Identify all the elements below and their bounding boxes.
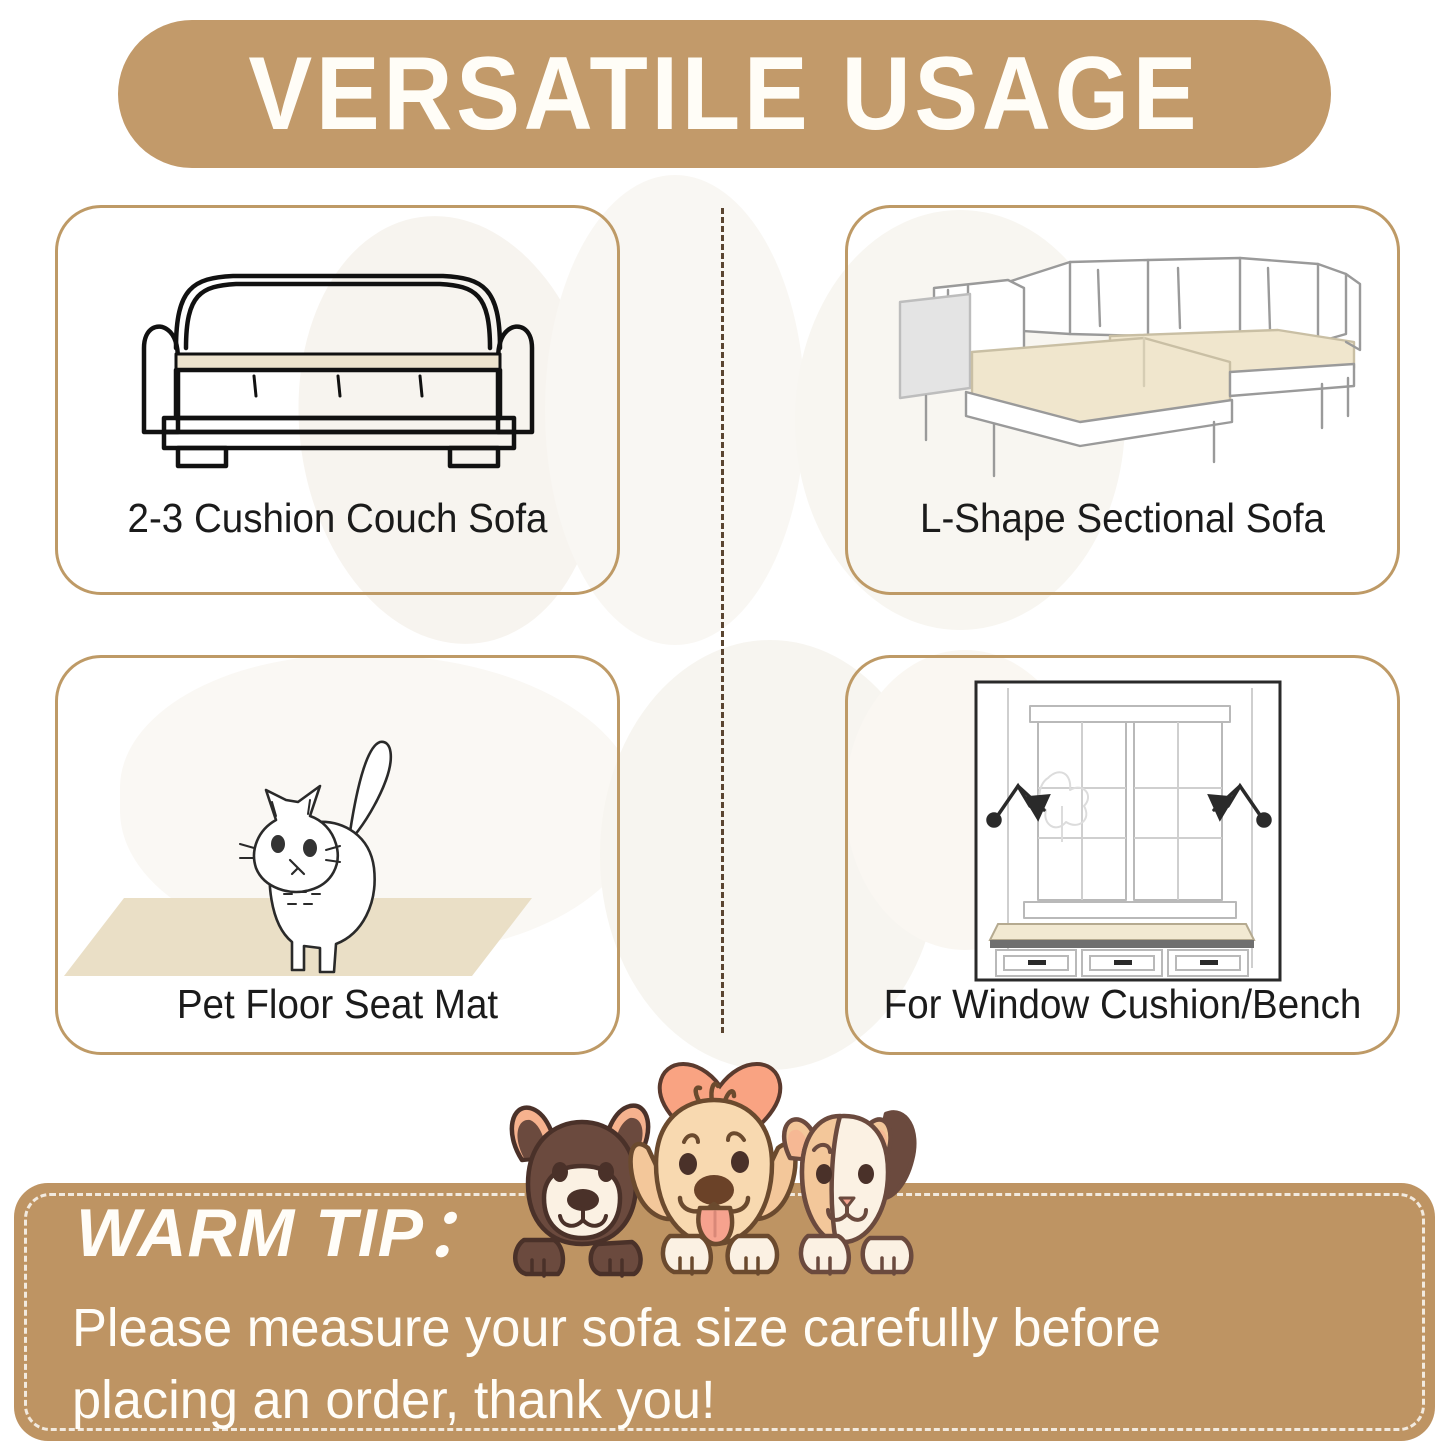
warm-tip-line-2: placing an order, thank you!: [72, 1369, 716, 1431]
window-bench-icon: [848, 678, 1408, 988]
header-banner: VERSATILE USAGE: [118, 20, 1331, 168]
usage-card-couch-sofa: 2-3 Cushion Couch Sofa: [55, 205, 620, 595]
warm-tip-line-1: Please measure your sofa size carefully …: [72, 1297, 1161, 1359]
usage-card-label: 2-3 Cushion Couch Sofa: [75, 495, 600, 542]
column-divider: [721, 208, 724, 1033]
usage-card-pet-floor-mat: Pet Floor Seat Mat: [55, 655, 620, 1055]
l-shape-sectional-sofa-icon: [848, 226, 1398, 494]
usage-card-window-bench: For Window Cushion/Bench: [845, 655, 1400, 1055]
usage-card-l-shape-sectional: L-Shape Sectional Sofa: [845, 205, 1400, 595]
couch-sofa-icon: [58, 236, 618, 486]
pets-illustration: [488, 1008, 958, 1298]
usage-card-label: L-Shape Sectional Sofa: [864, 495, 1380, 542]
warm-tip-heading: WARM TIP：: [76, 1199, 493, 1267]
cat-on-floor-mat-icon: [58, 698, 618, 988]
page-title: VERSATILE USAGE: [249, 42, 1201, 146]
